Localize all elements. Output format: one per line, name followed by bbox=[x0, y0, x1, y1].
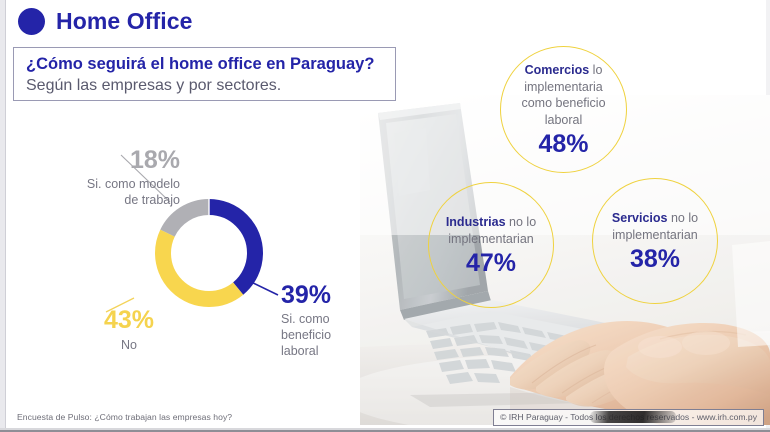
donut-caption-43: No bbox=[74, 337, 184, 353]
donut-value-39: 39% bbox=[281, 283, 401, 308]
donut-value-18: 18% bbox=[40, 148, 180, 173]
footer-source: Encuesta de Pulso: ¿Cómo trabajan las em… bbox=[17, 412, 232, 422]
donut-label-modelo-trabajo: 18% Si. como modelo de trabajo bbox=[40, 148, 180, 208]
donut-value-43: 43% bbox=[74, 308, 184, 333]
title-box: ¿Cómo seguirá el home office en Paraguay… bbox=[13, 47, 396, 101]
headline-question: ¿Cómo seguirá el home office en Paraguay… bbox=[26, 54, 395, 75]
callout-comercios-value: 48% bbox=[538, 132, 588, 157]
donut-caption-18: Si. como modelo de trabajo bbox=[40, 176, 180, 208]
infographic-page: Home Office ¿Cómo seguirá el home office… bbox=[0, 0, 770, 432]
page-left-border bbox=[5, 0, 6, 432]
donut-label-beneficio-laboral: 39% Si. como beneficio laboral bbox=[281, 283, 401, 359]
callout-servicios-strong: Servicios bbox=[612, 211, 668, 225]
page-header: Home Office bbox=[18, 8, 193, 35]
callout-industrias-strong: Industrias bbox=[446, 215, 506, 229]
donut-caption-39: Si. como beneficio laboral bbox=[281, 311, 401, 359]
callout-servicios-text: Servicios no lo implementarian bbox=[593, 210, 717, 243]
donut-chart bbox=[150, 194, 268, 312]
bullet-circle-icon bbox=[18, 8, 45, 35]
footer-copyright-box: © IRH Paraguay - Todos los derechos rese… bbox=[493, 409, 764, 426]
callout-industrias-value: 47% bbox=[466, 251, 516, 276]
headline-subtitle: Según las empresas y por sectores. bbox=[26, 76, 395, 97]
callout-servicios: Servicios no lo implementarian 38% bbox=[592, 178, 718, 304]
callout-comercios-text: Comercios lo implementaria como benefici… bbox=[501, 62, 626, 128]
callout-servicios-value: 38% bbox=[630, 247, 680, 272]
copyright-occlusion bbox=[590, 411, 676, 423]
callout-industrias: Industrias no lo implementarian 47% bbox=[428, 182, 554, 308]
callout-comercios: Comercios lo implementaria como benefici… bbox=[500, 46, 627, 173]
page-title: Home Office bbox=[56, 8, 193, 35]
donut-label-no: 43% No bbox=[74, 308, 184, 353]
callout-comercios-strong: Comercios bbox=[525, 63, 590, 77]
callout-industrias-text: Industrias no lo implementarian bbox=[429, 214, 553, 247]
